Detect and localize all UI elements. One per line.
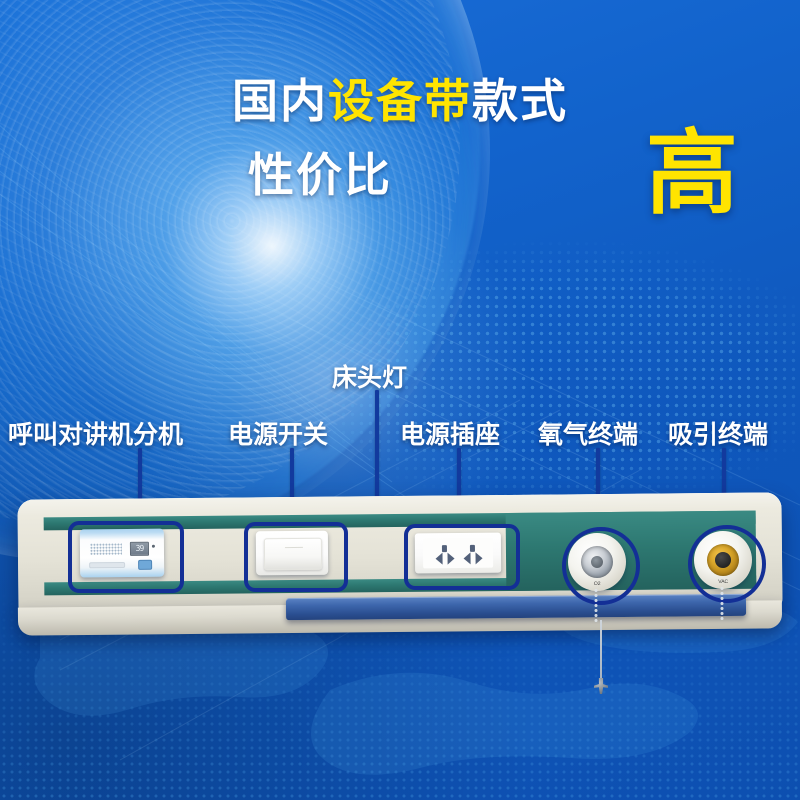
- oxygen-terminal-outlet[interactable]: O2: [568, 533, 627, 592]
- oxygen-terminal-face-text: O2: [594, 581, 601, 587]
- headline-line-1: 国内设备带款式: [0, 78, 800, 124]
- headline-emphasis-character: 高: [646, 128, 738, 220]
- callout-label-oxygen-terminal: 氧气终端: [538, 415, 638, 451]
- socket-pin-left-icon: [463, 552, 470, 564]
- intercom-vent-slot: [89, 562, 125, 568]
- earth-texture-overlay: [0, 0, 460, 525]
- rocker-line-mark: [285, 547, 303, 548]
- suction-terminal-core[interactable]: [707, 544, 739, 576]
- suction-terminal-face-text: VAC: [718, 579, 728, 585]
- light-streak-lines: [0, 0, 800, 800]
- earth-rim-glow: [0, 0, 490, 562]
- headline-line-2: 性价比: [248, 152, 392, 198]
- earth-globe-graphic: [0, 0, 480, 550]
- rocker-paddle[interactable]: [264, 538, 322, 571]
- suction-probe-hole-icon: [715, 552, 731, 568]
- dot-world-map-right: [240, 230, 800, 530]
- callout-label-power-switch: 电源开关: [228, 415, 328, 451]
- socket-pin-right-icon: [475, 552, 482, 564]
- intercom-call-button[interactable]: [138, 560, 152, 570]
- socket-pin-top-icon: [442, 545, 447, 552]
- speaker-grille-icon: [90, 543, 122, 555]
- oxygen-terminal-core[interactable]: [581, 546, 613, 578]
- socket-face: [423, 538, 493, 569]
- callout-layer: 呼叫对讲机分机 电源开关 床头灯 电源插座 氧气终端 吸引终端: [0, 0, 800, 800]
- suction-terminal-outlet[interactable]: VAC: [694, 531, 753, 590]
- intercom-display: 39: [130, 542, 149, 556]
- panel-blue-rail: [286, 594, 746, 620]
- socket-pin-left-icon: [435, 553, 442, 565]
- socket-pin-top-icon: [470, 545, 475, 552]
- headline-line1-part2: 款式: [472, 75, 568, 127]
- suction-terminal-cord: [720, 586, 724, 620]
- callout-label-bed-lamp: 床头灯: [332, 358, 407, 394]
- power-socket-outlet[interactable]: [415, 533, 501, 574]
- status-led-icon: [152, 545, 155, 548]
- headline-line1-accent: 设备带: [328, 75, 472, 127]
- socket-pin-right-icon: [447, 553, 454, 565]
- nurse-call-intercom-unit[interactable]: 39: [80, 529, 164, 578]
- bed-lamp-power-switch[interactable]: [256, 531, 328, 576]
- callout-label-power-socket: 电源插座: [400, 415, 500, 451]
- oxygen-terminal-cord: [594, 588, 598, 624]
- oxygen-probe-hole-icon: [591, 556, 603, 568]
- socket-outlet-right[interactable]: [459, 545, 487, 563]
- pull-cord[interactable]: [600, 620, 602, 684]
- headline-line1-part1: 国内: [232, 75, 328, 127]
- callout-label-intercom: 呼叫对讲机分机: [8, 415, 183, 451]
- callout-label-suction-terminal: 吸引终端: [668, 415, 768, 451]
- socket-outlet-left[interactable]: [431, 545, 459, 563]
- promo-banner: 国内设备带款式 性价比 高 呼叫对讲机分机 电源开关 床头灯 电源插座 氧气终端…: [0, 0, 800, 800]
- pull-cord-weight[interactable]: [594, 678, 608, 694]
